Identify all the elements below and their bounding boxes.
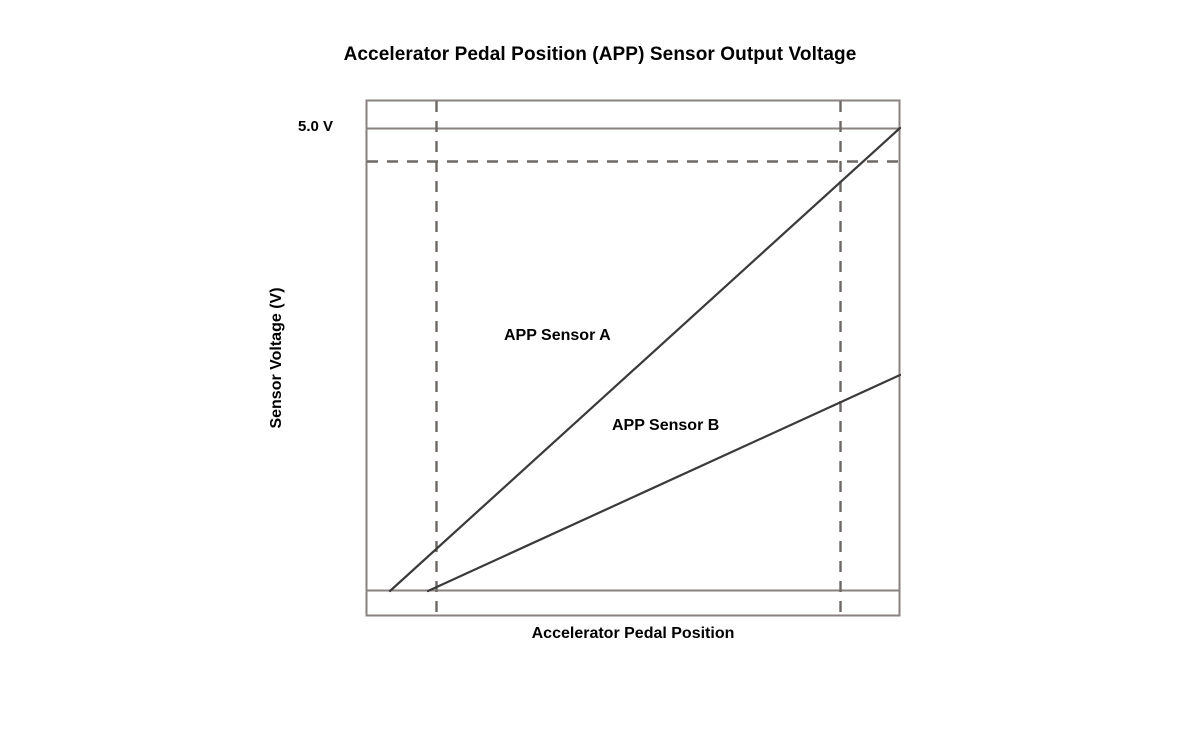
series-label-app-sensor-a: APP Sensor A <box>504 327 611 345</box>
series-line-app-sensor-a <box>390 128 900 591</box>
x-axis-label: Accelerator Pedal Position <box>366 625 900 643</box>
plot-area <box>0 0 1200 730</box>
plot-frame <box>367 101 900 616</box>
series-label-app-sensor-b: APP Sensor B <box>612 417 719 435</box>
chart-figure: Accelerator Pedal Position (APP) Sensor … <box>0 0 1200 730</box>
series-line-app-sensor-b <box>428 375 900 591</box>
